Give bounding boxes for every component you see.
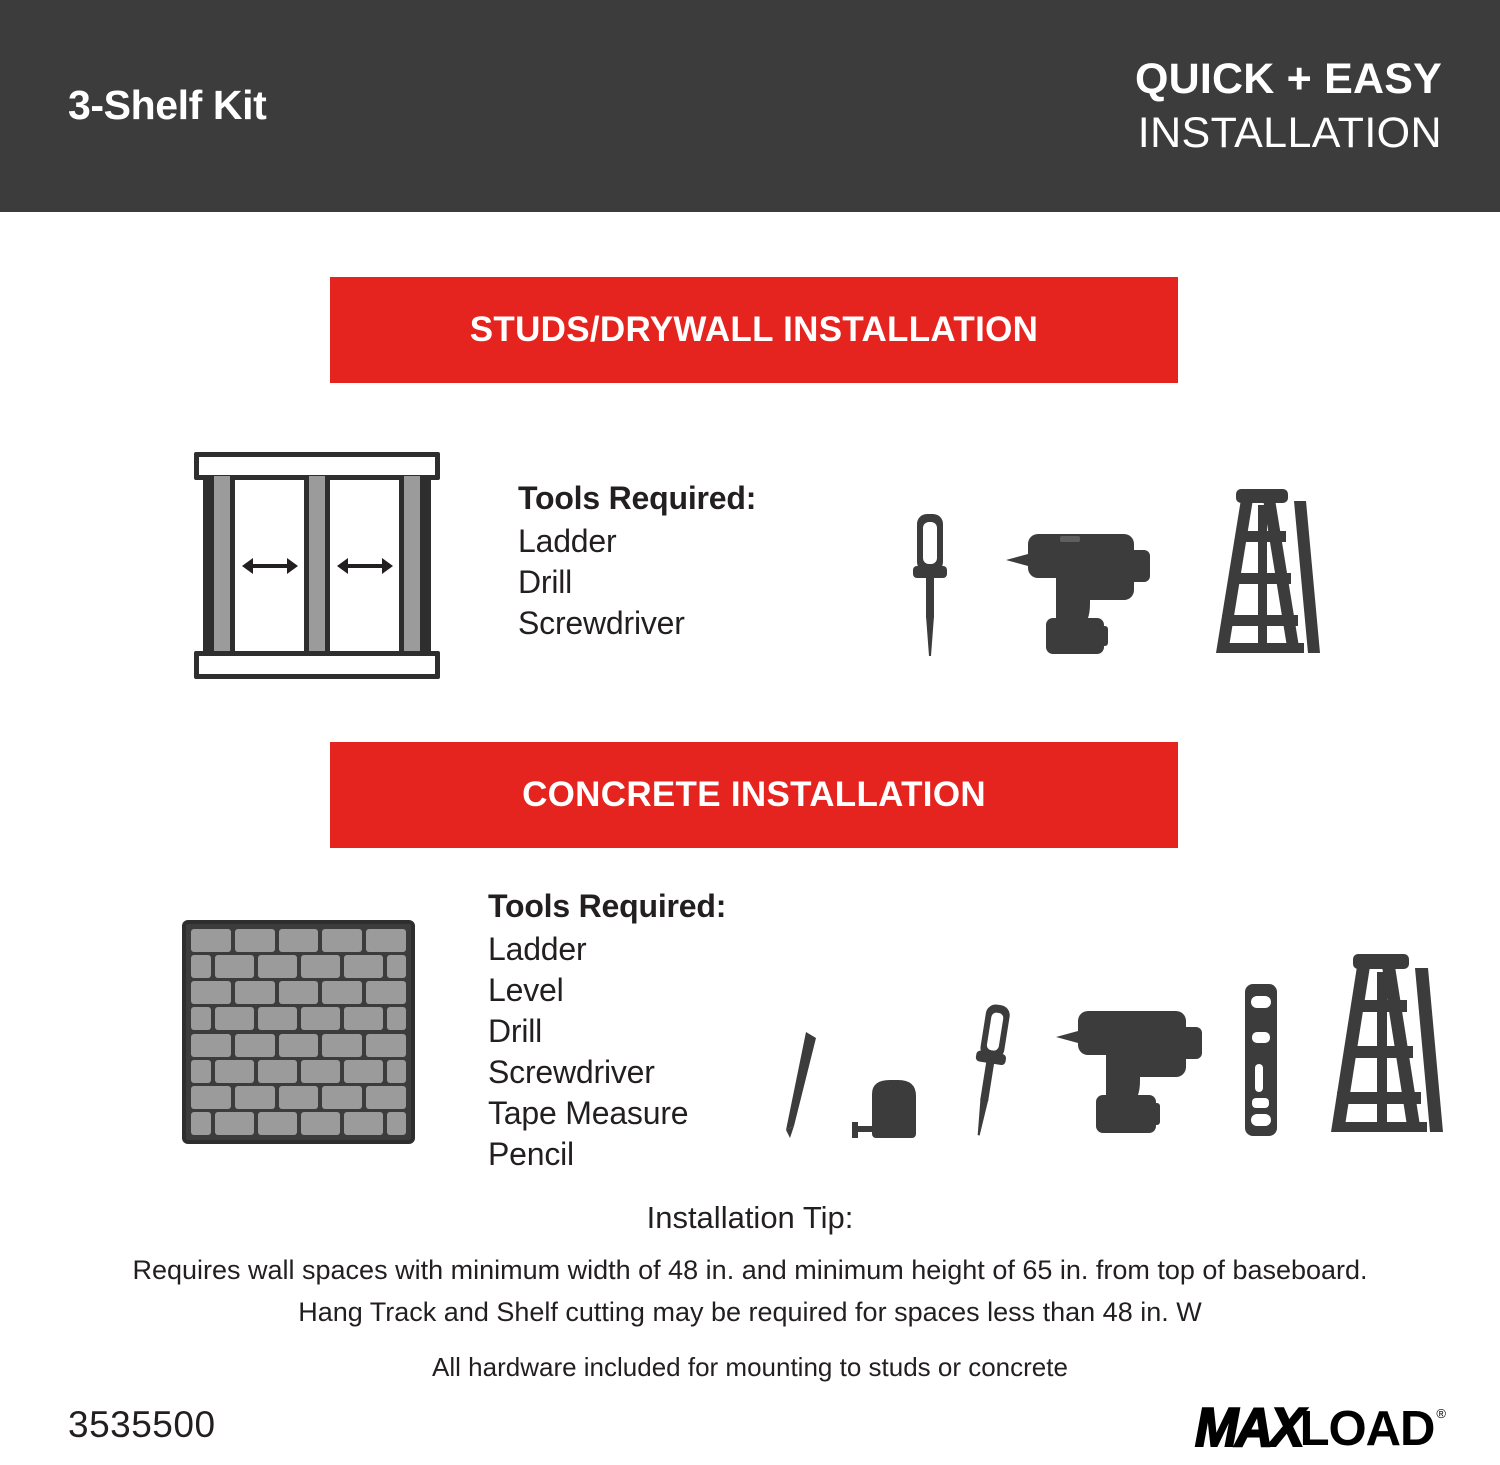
stud-bays bbox=[203, 476, 431, 656]
tool-icons-concrete bbox=[780, 900, 1451, 1140]
installation-tip-line-2: Hang Track and Shelf cutting may be requ… bbox=[0, 1292, 1500, 1334]
maxload-logo: MAX LOAD ® bbox=[1195, 1398, 1446, 1454]
brick-row bbox=[191, 955, 406, 978]
tools-heading: Tools Required: bbox=[488, 888, 726, 925]
tagline-installation: INSTALLATION bbox=[1135, 112, 1442, 155]
tools-required-studs: Tools Required: Ladder Drill Screwdriver bbox=[518, 480, 756, 644]
installation-tip: Installation Tip: Requires wall spaces w… bbox=[0, 1200, 1500, 1334]
brick-row bbox=[191, 1086, 406, 1109]
brick-row bbox=[191, 981, 406, 1004]
stud-left bbox=[209, 476, 235, 656]
tagline-quick-easy: QUICK + EASY bbox=[1135, 58, 1442, 101]
brick-row bbox=[191, 1112, 406, 1135]
banner-concrete-label: CONCRETE INSTALLATION bbox=[522, 775, 986, 815]
logo-max-text: MAX bbox=[1195, 1397, 1302, 1460]
stud-middle bbox=[304, 476, 330, 656]
drill-icon bbox=[998, 510, 1158, 660]
installation-tip-heading: Installation Tip: bbox=[0, 1200, 1500, 1236]
tool-item: Ladder bbox=[488, 929, 726, 970]
sku-number: 3535500 bbox=[68, 1404, 216, 1446]
header-tagline: QUICK + EASY INSTALLATION bbox=[1135, 58, 1442, 155]
brick-row bbox=[191, 1007, 406, 1030]
tool-item: Pencil bbox=[488, 1134, 726, 1175]
spacing-arrow-icon bbox=[337, 557, 393, 575]
brick-row bbox=[191, 929, 406, 952]
stud-wall-diagram bbox=[194, 452, 440, 679]
tool-item: Ladder bbox=[518, 521, 756, 562]
brick-wall-diagram bbox=[182, 920, 415, 1144]
installation-tip-line-1: Requires wall spaces with minimum width … bbox=[0, 1250, 1500, 1292]
tool-item: Drill bbox=[488, 1011, 726, 1052]
tool-item: Tape Measure bbox=[488, 1093, 726, 1134]
screwdriver-icon bbox=[960, 1000, 1016, 1140]
stud-right bbox=[399, 476, 425, 656]
banner-studs-drywall: STUDS/DRYWALL INSTALLATION bbox=[330, 277, 1178, 383]
tools-required-concrete: Tools Required: Ladder Level Drill Screw… bbox=[488, 888, 726, 1175]
bay-left bbox=[235, 476, 304, 656]
spacing-arrow-icon bbox=[242, 557, 298, 575]
hardware-note: All hardware included for mounting to st… bbox=[0, 1352, 1500, 1383]
brick-row bbox=[191, 1034, 406, 1057]
ladder-icon bbox=[1311, 950, 1451, 1140]
brick-row bbox=[191, 1060, 406, 1083]
banner-concrete: CONCRETE INSTALLATION bbox=[330, 742, 1178, 848]
bottom-plate bbox=[194, 651, 440, 679]
banner-studs-drywall-label: STUDS/DRYWALL INSTALLATION bbox=[470, 310, 1038, 350]
page-header: 3-Shelf Kit QUICK + EASY INSTALLATION bbox=[0, 0, 1500, 212]
bay-right bbox=[330, 476, 399, 656]
tools-heading: Tools Required: bbox=[518, 480, 756, 517]
logo-load-text: LOAD bbox=[1300, 1401, 1435, 1457]
tool-icons-studs bbox=[900, 440, 1326, 660]
tool-item: Level bbox=[488, 970, 726, 1011]
tool-item: Screwdriver bbox=[518, 603, 756, 644]
level-icon bbox=[1241, 980, 1281, 1140]
registered-trademark-icon: ® bbox=[1436, 1406, 1446, 1421]
page-title: 3-Shelf Kit bbox=[68, 82, 266, 129]
ladder-icon bbox=[1196, 485, 1326, 660]
tool-item: Screwdriver bbox=[488, 1052, 726, 1093]
tool-item: Drill bbox=[518, 562, 756, 603]
drill-icon bbox=[1046, 985, 1211, 1140]
tape-measure-icon bbox=[850, 1070, 930, 1140]
screwdriver-icon bbox=[900, 510, 960, 660]
pencil-icon bbox=[780, 1030, 820, 1140]
